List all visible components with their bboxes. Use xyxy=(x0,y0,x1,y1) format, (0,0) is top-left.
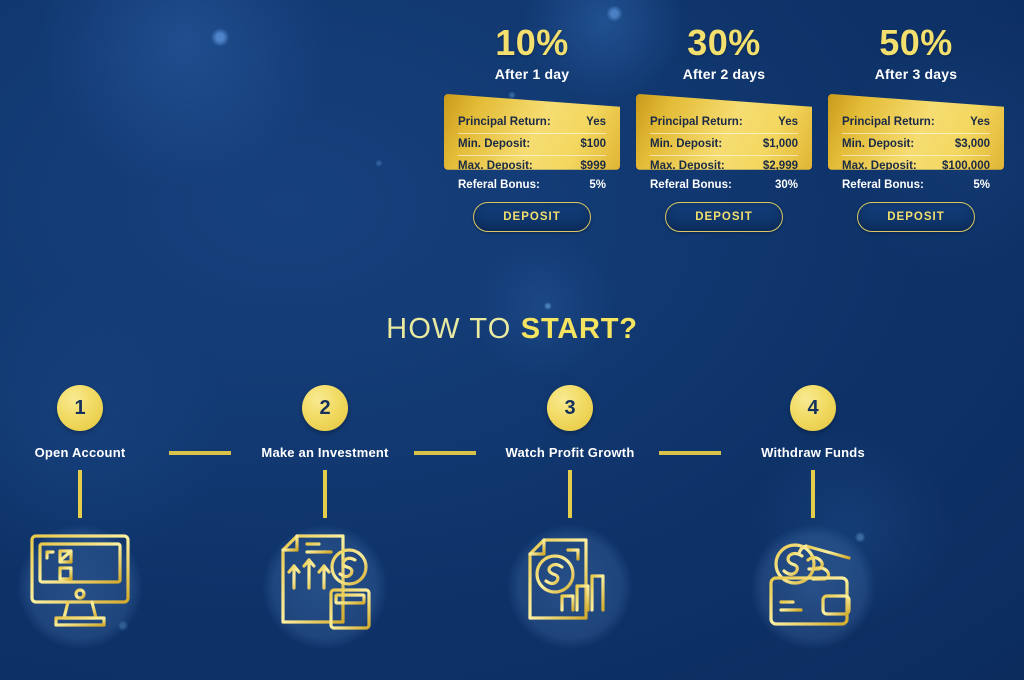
plan-row-value: Yes xyxy=(778,116,798,128)
plan-row-value: $3,000 xyxy=(955,138,990,150)
deposit-button[interactable]: DEPOSIT xyxy=(473,202,591,232)
plan-row-label: Principal Return: xyxy=(458,116,551,128)
referral-bonus: Referal Bonus: 5% xyxy=(828,170,1004,191)
step-icon-wrap xyxy=(260,522,390,652)
step-icon-wrap xyxy=(15,522,145,652)
deposit-button-wrap: DEPOSIT xyxy=(636,202,812,232)
step-label: Watch Profit Growth xyxy=(470,445,670,460)
heading-bold: START? xyxy=(521,313,638,345)
plan-percent: 50% xyxy=(828,24,1004,62)
step-vertical-dashes xyxy=(568,470,572,518)
plan-row-value: Yes xyxy=(586,116,606,128)
referral-bonus: Referal Bonus: 30% xyxy=(636,170,812,191)
hand-coin-wallet-icon xyxy=(753,522,873,640)
step-number-badge: 3 xyxy=(547,385,593,431)
deposit-button[interactable]: DEPOSIT xyxy=(857,202,975,232)
plan-card: 10% After 1 day Principal Return: Yes Mi… xyxy=(444,24,620,232)
referral-bonus-label: Referal Bonus: xyxy=(842,179,924,191)
referral-bonus-label: Referal Bonus: xyxy=(458,179,540,191)
deposit-button-wrap: DEPOSIT xyxy=(444,202,620,232)
plan-row: Min. Deposit: $100 xyxy=(458,134,606,156)
step-label: Open Account xyxy=(0,445,180,460)
monitor-checklist-icon xyxy=(20,522,140,640)
deposit-button-wrap: DEPOSIT xyxy=(828,202,1004,232)
step-icon-wrap xyxy=(505,522,635,652)
referral-bonus-value: 5% xyxy=(973,179,990,191)
plan-row: Min. Deposit: $3,000 xyxy=(842,134,990,156)
plan-card: 50% After 3 days Principal Return: Yes M… xyxy=(828,24,1004,232)
plan-row-value: $1,000 xyxy=(763,138,798,150)
document-arrows-calculator-icon xyxy=(265,522,385,640)
plan-row-label: Min. Deposit: xyxy=(458,138,530,150)
step-icon-wrap xyxy=(748,522,878,652)
step-label: Make an Investment xyxy=(225,445,425,460)
step-vertical-dashes xyxy=(811,470,815,518)
step-number-badge: 2 xyxy=(302,385,348,431)
investment-plans: 10% After 1 day Principal Return: Yes Mi… xyxy=(444,24,1004,232)
plan-row: Principal Return: Yes xyxy=(842,112,990,134)
deposit-button[interactable]: DEPOSIT xyxy=(665,202,783,232)
how-to-start-steps: 1 Open Account xyxy=(0,385,1024,680)
plan-row: Principal Return: Yes xyxy=(458,112,606,134)
referral-bonus: Referal Bonus: 5% xyxy=(444,170,620,191)
step-withdraw-funds[interactable]: 4 Withdraw Funds xyxy=(713,385,913,652)
plan-duration: After 2 days xyxy=(636,66,812,82)
step-vertical-dashes xyxy=(78,470,82,518)
plan-percent: 30% xyxy=(636,24,812,62)
step-label: Withdraw Funds xyxy=(713,445,913,460)
plan-row-label: Min. Deposit: xyxy=(842,138,914,150)
step-number-badge: 4 xyxy=(790,385,836,431)
heading-thin: HOW TO xyxy=(386,313,521,345)
plan-row-value: $100 xyxy=(580,138,606,150)
step-watch-profit-growth[interactable]: 3 Watch Profit Growth xyxy=(470,385,670,652)
step-open-account[interactable]: 1 Open Account xyxy=(0,385,180,652)
plan-row-label: Min. Deposit: xyxy=(650,138,722,150)
plan-duration: After 3 days xyxy=(828,66,1004,82)
step-make-investment[interactable]: 2 Make an Investment xyxy=(225,385,425,652)
plan-details-panel: Principal Return: Yes Min. Deposit: $3,0… xyxy=(828,94,1004,170)
plan-card: 30% After 2 days Principal Return: Yes M… xyxy=(636,24,812,232)
document-coin-barchart-icon xyxy=(510,522,630,640)
plan-percent: 10% xyxy=(444,24,620,62)
plan-row: Principal Return: Yes xyxy=(650,112,798,134)
plan-details-panel: Principal Return: Yes Min. Deposit: $100… xyxy=(444,94,620,170)
plan-row: Min. Deposit: $1,000 xyxy=(650,134,798,156)
referral-bonus-label: Referal Bonus: xyxy=(650,179,732,191)
referral-bonus-value: 5% xyxy=(589,179,606,191)
section-heading: HOW TO START? xyxy=(0,313,1024,346)
step-number-badge: 1 xyxy=(57,385,103,431)
plan-details-panel: Principal Return: Yes Min. Deposit: $1,0… xyxy=(636,94,812,170)
plan-duration: After 1 day xyxy=(444,66,620,82)
referral-bonus-value: 30% xyxy=(775,179,798,191)
plan-row-value: Yes xyxy=(970,116,990,128)
plan-row-label: Principal Return: xyxy=(842,116,935,128)
step-vertical-dashes xyxy=(323,470,327,518)
plan-row-label: Principal Return: xyxy=(650,116,743,128)
